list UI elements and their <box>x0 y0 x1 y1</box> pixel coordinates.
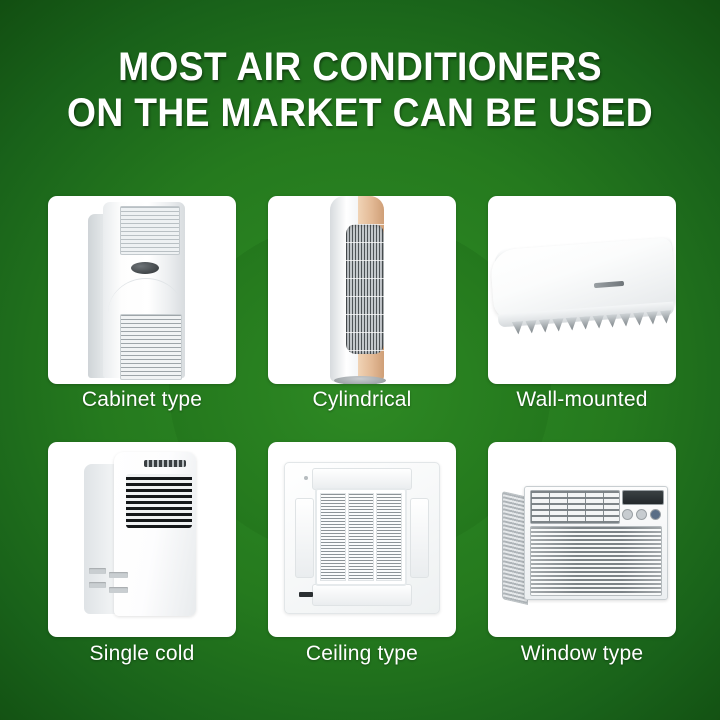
ac-image-card <box>488 442 676 637</box>
ac-image-card <box>488 196 676 384</box>
ac-image-card <box>48 442 236 637</box>
ac-type-item-cylindrical[interactable]: Cylindrical <box>268 196 456 402</box>
ac-type-item-wall-mounted[interactable]: Wall-mounted <box>488 196 676 402</box>
window-ac-icon <box>488 442 676 637</box>
ac-type-label: Cylindrical <box>250 388 474 412</box>
ac-image-card <box>268 442 456 637</box>
ac-type-label: Wall-mounted <box>470 388 694 412</box>
headline-line-2: ON THE MARKET CAN BE USED <box>25 90 695 136</box>
ac-type-item-single-cold[interactable]: Single cold <box>48 442 236 648</box>
ac-type-item-cabinet[interactable]: Cabinet type <box>48 196 236 402</box>
ac-type-grid: Cabinet type Cylindrical <box>48 196 676 648</box>
ceiling-cassette-ac-icon <box>268 442 456 637</box>
cabinet-ac-icon <box>48 196 236 384</box>
wall-mounted-ac-icon <box>488 196 676 384</box>
product-compatibility-poster: MOST AIR CONDITIONERS ON THE MARKET CAN … <box>0 0 720 720</box>
ac-image-card <box>268 196 456 384</box>
portable-ac-icon <box>48 442 236 637</box>
ac-type-label: Ceiling type <box>250 642 474 666</box>
ac-type-item-ceiling[interactable]: Ceiling type <box>268 442 456 648</box>
ac-image-card <box>48 196 236 384</box>
ac-type-label: Cabinet type <box>30 388 254 412</box>
ac-type-label: Window type <box>470 642 694 666</box>
cylindrical-ac-icon <box>268 196 456 384</box>
ac-type-label: Single cold <box>30 642 254 666</box>
page-title: MOST AIR CONDITIONERS ON THE MARKET CAN … <box>25 44 695 137</box>
ac-type-item-window[interactable]: Window type <box>488 442 676 648</box>
headline-line-1: MOST AIR CONDITIONERS <box>118 45 602 89</box>
